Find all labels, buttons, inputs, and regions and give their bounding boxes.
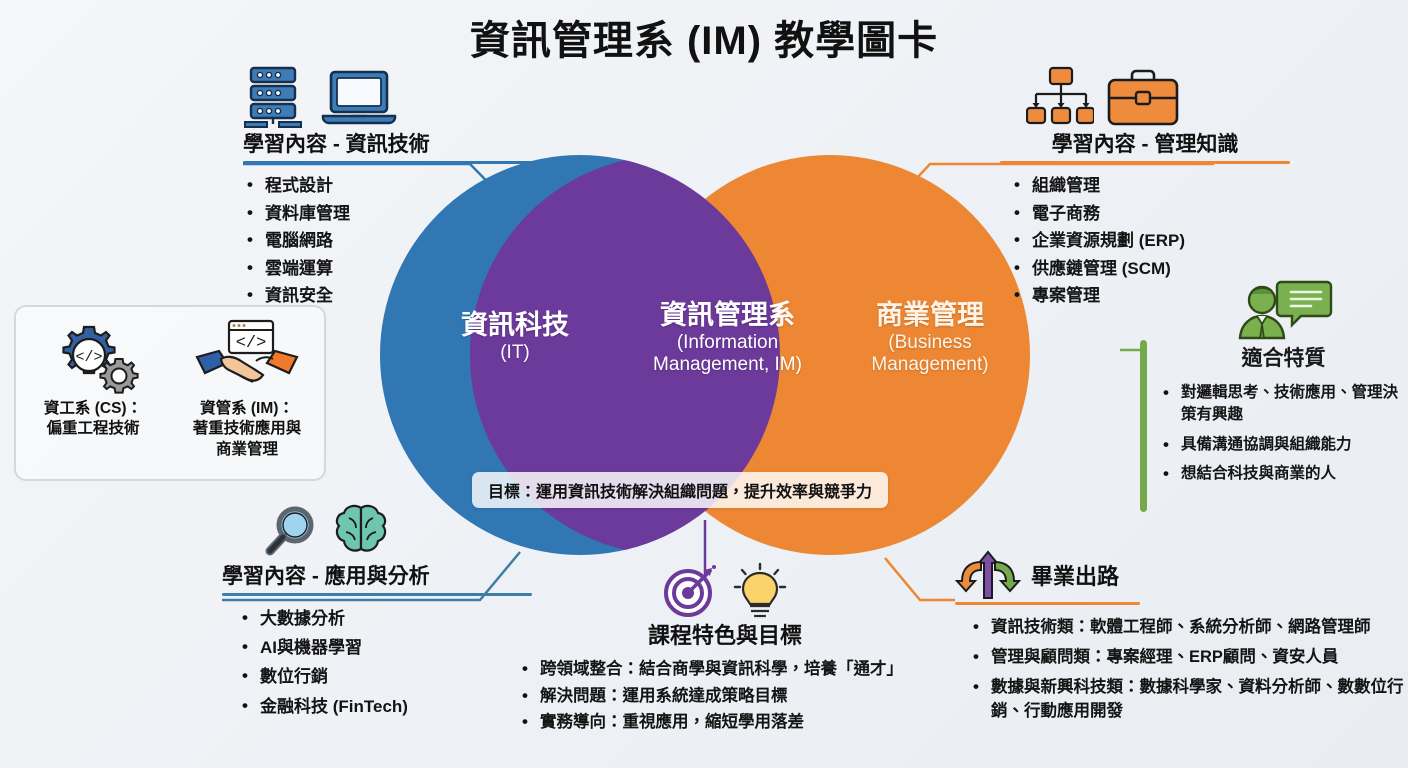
section-course-features: 課程特色與目標 跨領域整合：結合商學與資訊科學，培養「通才」 解決問題：運用系統… [500,560,950,736]
course-features-list: 跨領域整合：結合商學與資訊科學，培養「通才」 解決問題：運用系統達成策略目標 實… [500,656,950,736]
section-analysis-content: 學習內容 - 應用與分析 大數據分析 AI與機器學習 數位行銷 金融科技 (Fi… [222,502,532,721]
list-item: 大數據分析 [238,604,532,633]
list-item: 實務導向：重視應用，縮短學用落差 [518,709,950,736]
list-item: 管理與顧問類：專案經理、ERP顧問、資安人員 [969,645,1408,670]
list-item: AI與機器學習 [238,633,532,662]
compare-cs-caption: 資工系 (CS)： 偏重工程技術 [23,399,163,440]
brain-icon [332,502,390,560]
list-item: 資料庫管理 [243,200,543,228]
careers-rule [955,602,1140,605]
briefcase-icon [1106,66,1180,128]
section-management-content: 學習內容 - 管理知識 組織管理 電子商務 企業資源規劃 (ERP) 供應鏈管理… [1000,52,1330,310]
it-content-rule [243,161,543,164]
venn-label-it-en: (IT) [400,342,630,364]
compare-im-line1: 資管系 (IM)： [177,399,317,419]
course-features-heading: 課程特色與目標 [500,618,950,650]
list-item: 電子商務 [1010,200,1330,228]
compare-im-line2: 著重技術應用與 [177,419,317,439]
target-icon [663,564,719,618]
analysis-list: 大數據分析 AI與機器學習 數位行銷 金融科技 (FinTech) [222,604,532,721]
venn-label-it-zh: 資訊科技 [400,310,630,342]
venn-label-business-zh: 商業管理 [820,300,1040,332]
venn-label-business: 商業管理 (Business Management) [820,300,1040,377]
cs-vs-im-compare-box: </> 資工系 (CS)： 偏重工程技術 </> [14,305,326,481]
list-item: 對邏輯思考、技術應用、管理決策有興趣 [1159,382,1408,427]
magnifier-icon [262,504,320,560]
person-speech-icon [1235,278,1333,340]
careers-list: 資訊技術類：軟體工程師、系統分析師、網路管理師 管理與顧問類：專案經理、ERP顧… [955,615,1408,724]
fit-traits-icons [1159,278,1408,340]
svg-text:</>: </> [75,349,102,366]
three-way-arrows-icon [955,550,1021,600]
venn-label-im-en2: Management, IM) [620,354,835,376]
management-content-icons [1000,52,1330,128]
list-item: 解決問題：運用系統達成策略目標 [518,683,950,710]
infographic-canvas: 資訊管理系 (IM) 教學圖卡 資訊科技 (IT) 資訊管理系 (Informa… [0,0,1408,768]
compare-im-line3: 商業管理 [177,440,317,460]
org-chart-icon [1026,66,1094,128]
compare-cs-line1: 資工系 (CS)： [23,399,163,419]
venn-label-it: 資訊科技 (IT) [400,310,630,364]
compare-item-im: </> 資管系 (IM)： 著重技術應用與 商業管理 [177,319,317,460]
analysis-rule [222,593,532,596]
list-item: 電腦網路 [243,227,543,255]
list-item: 數據與新興科技類：數據科學家、資料分析師、數數位行銷、行動應用開發 [969,675,1408,725]
it-content-heading: 學習內容 - 資訊技術 [243,128,543,158]
management-content-heading: 學習內容 - 管理知識 [1000,128,1290,158]
handshake-code-icon: </> [195,319,299,395]
management-content-rule [1000,161,1290,164]
list-item: 數位行銷 [238,662,532,691]
list-item: 企業資源規劃 (ERP) [1010,227,1330,255]
venn-label-im-en1: (Information [620,332,835,354]
goal-banner: 目標：運用資訊技術解決組織問題，提升效率與競爭力 [472,472,888,508]
careers-header-row: 畢業出路 [955,550,1408,600]
section-careers: 畢業出路 資訊技術類：軟體工程師、系統分析師、網路管理師 管理與顧問類：專案經理… [955,550,1408,729]
compare-item-cs: </> 資工系 (CS)： 偏重工程技術 [23,319,163,440]
lightbulb-icon [733,562,787,618]
section-fit-traits: 適合特質 對邏輯思考、技術應用、管理決策有興趣 具備溝通協調與組織能力 想結合科… [1140,278,1408,512]
fit-traits-accent-bar [1140,340,1147,512]
it-content-icons [243,52,543,128]
list-item: 具備溝通協調與組織能力 [1159,434,1408,456]
list-item: 組織管理 [1010,172,1330,200]
venn-label-im-zh: 資訊管理系 [620,300,835,332]
list-item: 資訊技術類：軟體工程師、系統分析師、網路管理師 [969,615,1408,640]
compare-im-caption: 資管系 (IM)： 著重技術應用與 商業管理 [177,399,317,460]
server-stack-icon [243,62,309,128]
it-content-list: 程式設計 資料庫管理 電腦網路 雲端運算 資訊安全 [243,172,543,310]
course-feature-icons [500,560,950,618]
venn-label-business-en2: Management) [820,354,1040,376]
venn-label-business-en1: (Business [820,332,1040,354]
analysis-heading: 學習內容 - 應用與分析 [222,560,532,590]
analysis-icons [222,502,532,560]
list-item: 跨領域整合：結合商學與資訊科學，培養「通才」 [518,656,950,683]
svg-text:</>: </> [236,334,267,353]
list-item: 程式設計 [243,172,543,200]
compare-cs-line2: 偏重工程技術 [23,419,163,439]
list-item: 想結合科技與商業的人 [1159,463,1408,485]
venn-label-im: 資訊管理系 (Information Management, IM) [620,300,835,377]
list-item: 金融科技 (FinTech) [238,692,532,721]
gear-code-icon: </> [45,319,141,395]
fit-traits-list: 對邏輯思考、技術應用、管理決策有興趣 具備溝通協調與組織能力 想結合科技與商業的… [1159,382,1408,486]
list-item: 雲端運算 [243,255,543,283]
laptop-icon [321,68,397,128]
section-it-content: 學習內容 - 資訊技術 程式設計 資料庫管理 電腦網路 雲端運算 資訊安全 [243,52,543,310]
careers-heading: 畢業出路 [1031,559,1119,591]
fit-traits-heading: 適合特質 [1159,342,1408,372]
